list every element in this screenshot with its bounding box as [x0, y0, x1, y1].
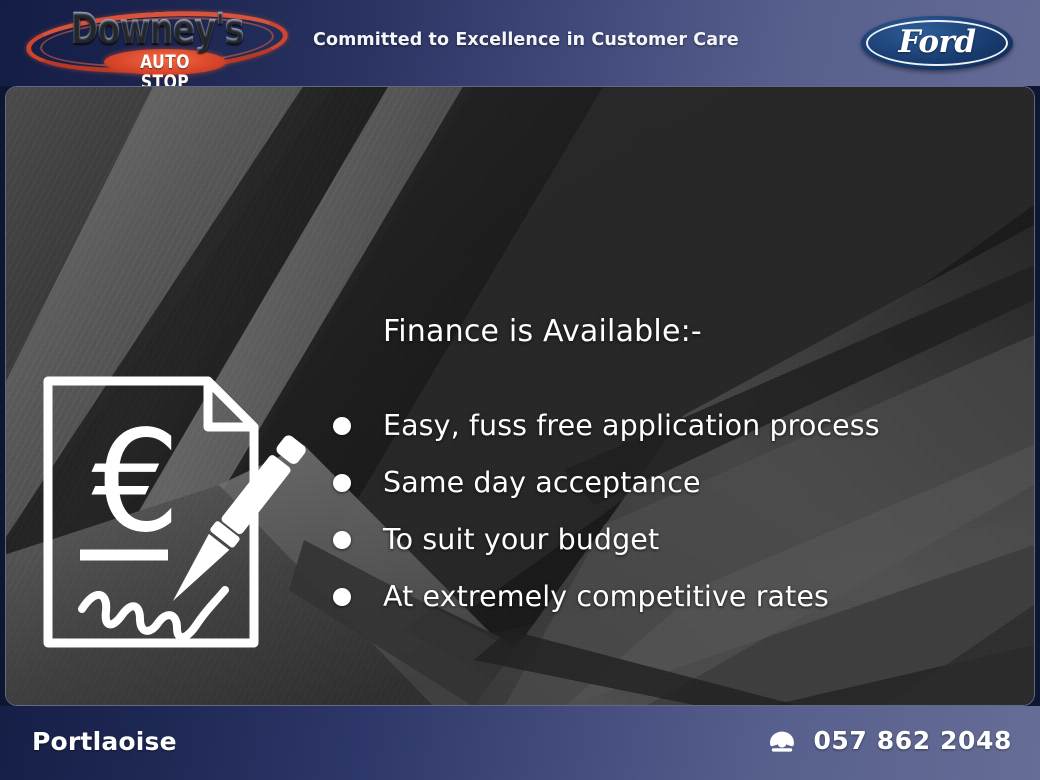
- list-item-label: Same day acceptance: [383, 466, 701, 499]
- bullet-dot-icon: [333, 474, 351, 492]
- phone-number: 057 862 2048: [813, 726, 1012, 755]
- telephone-icon: [765, 728, 799, 754]
- bullet-dot-icon: [333, 417, 351, 435]
- footer-bar: Portlaoise 057 862 2048: [0, 706, 1040, 780]
- advert-banner: Downey's AUTO STOP Committed to Excellen…: [0, 0, 1040, 780]
- list-item: Easy, fuss free application process: [333, 397, 1013, 454]
- list-item-label: Easy, fuss free application process: [383, 409, 880, 442]
- list-item: At extremely competitive rates: [333, 568, 1013, 625]
- list-item: To suit your budget: [333, 511, 1013, 568]
- list-item-label: At extremely competitive rates: [383, 580, 829, 613]
- bullet-dot-icon: [333, 531, 351, 549]
- ford-logo[interactable]: Ford: [861, 16, 1013, 70]
- list-item: Same day acceptance: [333, 454, 1013, 511]
- headline-text: Finance is Available:-: [383, 314, 702, 349]
- phone-block[interactable]: 057 862 2048: [765, 726, 1012, 755]
- svg-text:€: €: [91, 401, 180, 564]
- dealer-subtitle: AUTO STOP: [115, 52, 215, 86]
- finance-document-euro-signature-icon: €: [40, 367, 308, 657]
- header-bar: Downey's AUTO STOP Committed to Excellen…: [0, 0, 1040, 86]
- list-item-label: To suit your budget: [383, 523, 659, 556]
- bullet-dot-icon: [333, 588, 351, 606]
- tagline-text: Committed to Excellence in Customer Care: [313, 30, 739, 50]
- main-panel: € Finance is Available:- Easy, fuss: [5, 86, 1035, 706]
- location-label: Portlaoise: [32, 727, 177, 756]
- benefits-list: Easy, fuss free application process Same…: [333, 397, 1013, 625]
- ford-wordmark: Ford: [899, 24, 976, 60]
- dealer-name: Downey's: [49, 6, 266, 52]
- dealer-logo[interactable]: Downey's AUTO STOP: [18, 2, 296, 84]
